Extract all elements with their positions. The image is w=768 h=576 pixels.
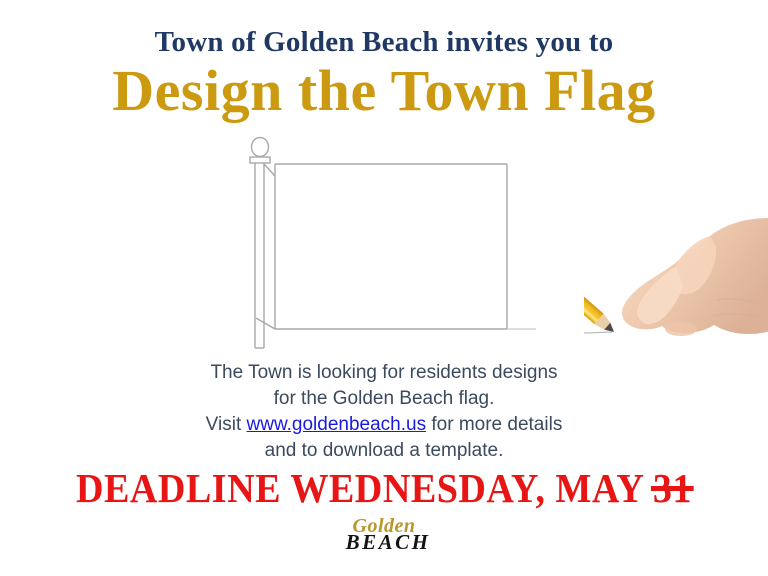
body-line-3-suffix: for more details bbox=[426, 414, 562, 435]
pencil-barrel bbox=[584, 219, 603, 324]
deadline-day-number: 31 bbox=[653, 466, 692, 510]
flag-illustration bbox=[236, 136, 536, 356]
flagpole-collar bbox=[250, 157, 270, 163]
website-link[interactable]: www.goldenbeach.us bbox=[247, 414, 427, 435]
town-logo: Golden BEACH bbox=[0, 516, 768, 564]
hand-pencil-svg bbox=[584, 140, 768, 360]
body-line-1: The Town is looking for residents design… bbox=[0, 360, 768, 386]
flag-bottom-tie bbox=[256, 318, 275, 329]
body-line-3: Visit www.goldenbeach.us for more detail… bbox=[0, 412, 768, 438]
drawn-stroke-line bbox=[584, 332, 612, 333]
headline-block: Town of Golden Beach invites you to Desi… bbox=[0, 26, 768, 122]
headline-title: Design the Town Flag bbox=[0, 60, 768, 122]
flag-top-tie bbox=[264, 164, 275, 176]
body-line-3-prefix: Visit bbox=[206, 414, 247, 435]
hand-with-pencil-illustration bbox=[584, 140, 768, 360]
flag-design-poster: Town of Golden Beach invites you to Desi… bbox=[0, 0, 768, 576]
body-line-2: for the Golden Beach flag. bbox=[0, 386, 768, 412]
pencil-icon bbox=[584, 202, 619, 337]
deadline-text: DEADLINE WEDNESDAY, MAY bbox=[76, 465, 653, 511]
body-line-4: and to download a template. bbox=[0, 438, 768, 464]
town-logo-inner: Golden BEACH bbox=[338, 516, 431, 553]
headline-subtitle: Town of Golden Beach invites you to bbox=[0, 26, 768, 58]
flagpole-finial-icon bbox=[252, 138, 269, 157]
hand-fingertip bbox=[665, 322, 697, 336]
deadline-banner: DEADLINE WEDNESDAY, MAY 31 bbox=[27, 466, 741, 510]
body-copy: The Town is looking for residents design… bbox=[0, 360, 768, 464]
hand-icon bbox=[622, 218, 768, 336]
flag-drawing-svg bbox=[236, 136, 536, 356]
logo-word-beach: BEACH bbox=[346, 532, 431, 553]
